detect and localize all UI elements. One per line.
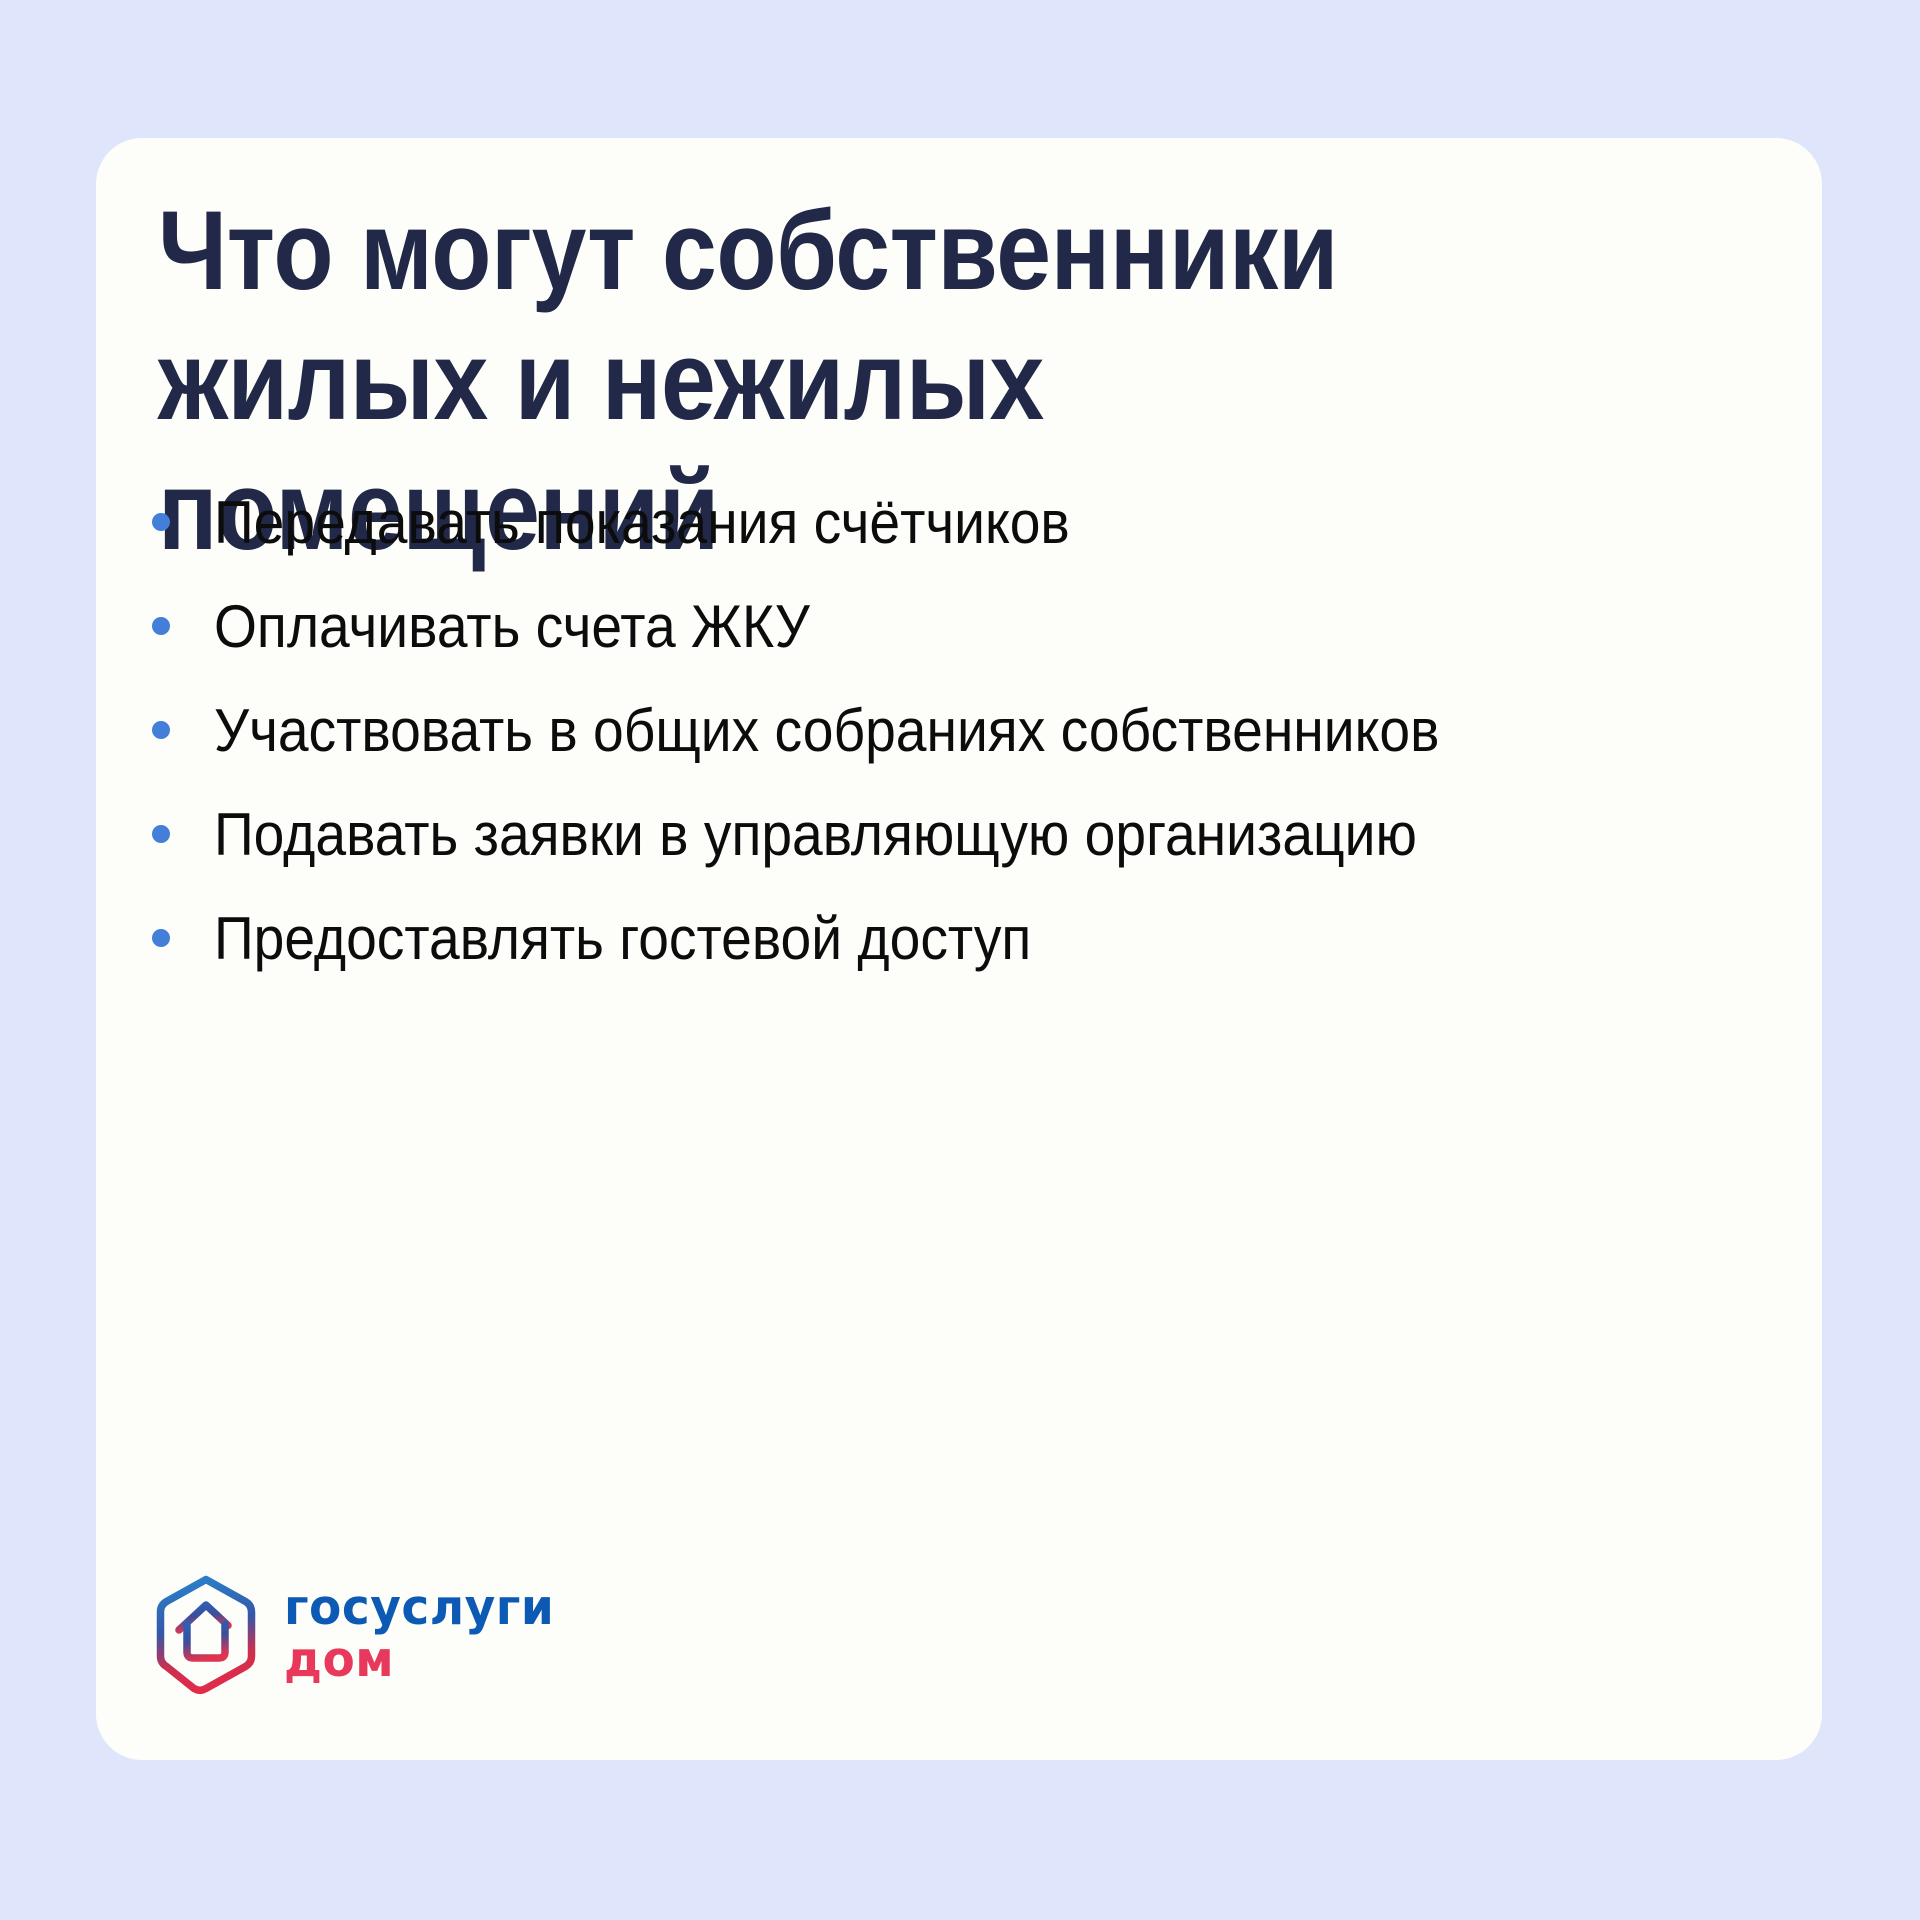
list-item: Оплачивать счета ЖКУ: [96, 574, 1822, 678]
brand-logo: госуслуги дом: [152, 1574, 566, 1694]
info-card: Что могут собственники жилых и нежилых п…: [96, 138, 1822, 1760]
bullet-dot-icon: [152, 929, 170, 947]
list-item-label: Участвовать в общих собраниях собственни…: [214, 699, 1439, 762]
capabilities-list: Передавать показания счётчиков Оплачиват…: [96, 470, 1822, 990]
list-item: Передавать показания счётчиков: [96, 470, 1822, 574]
list-item: Подавать заявки в управляющую организаци…: [96, 782, 1822, 886]
list-item-label: Оплачивать счета ЖКУ: [214, 595, 810, 658]
bullet-dot-icon: [152, 825, 170, 843]
bullet-dot-icon: [152, 513, 170, 531]
bullet-dot-icon: [152, 617, 170, 635]
list-item: Предоставлять гостевой доступ: [96, 886, 1822, 990]
page-root: Что могут собственники жилых и нежилых п…: [0, 0, 1920, 1920]
brand-wordmark: госуслуги дом: [284, 1584, 566, 1684]
list-item: Участвовать в общих собраниях собственни…: [96, 678, 1822, 782]
bullet-dot-icon: [152, 721, 170, 739]
list-item-label: Предоставлять гостевой доступ: [214, 907, 1031, 970]
brand-word-dom: дом: [284, 1636, 554, 1684]
brand-word-gosuslugi: госуслуги: [284, 1584, 554, 1632]
house-in-hexagon-icon: [152, 1574, 260, 1694]
list-item-label: Передавать показания счётчиков: [214, 491, 1070, 554]
list-item-label: Подавать заявки в управляющую организаци…: [214, 803, 1417, 866]
